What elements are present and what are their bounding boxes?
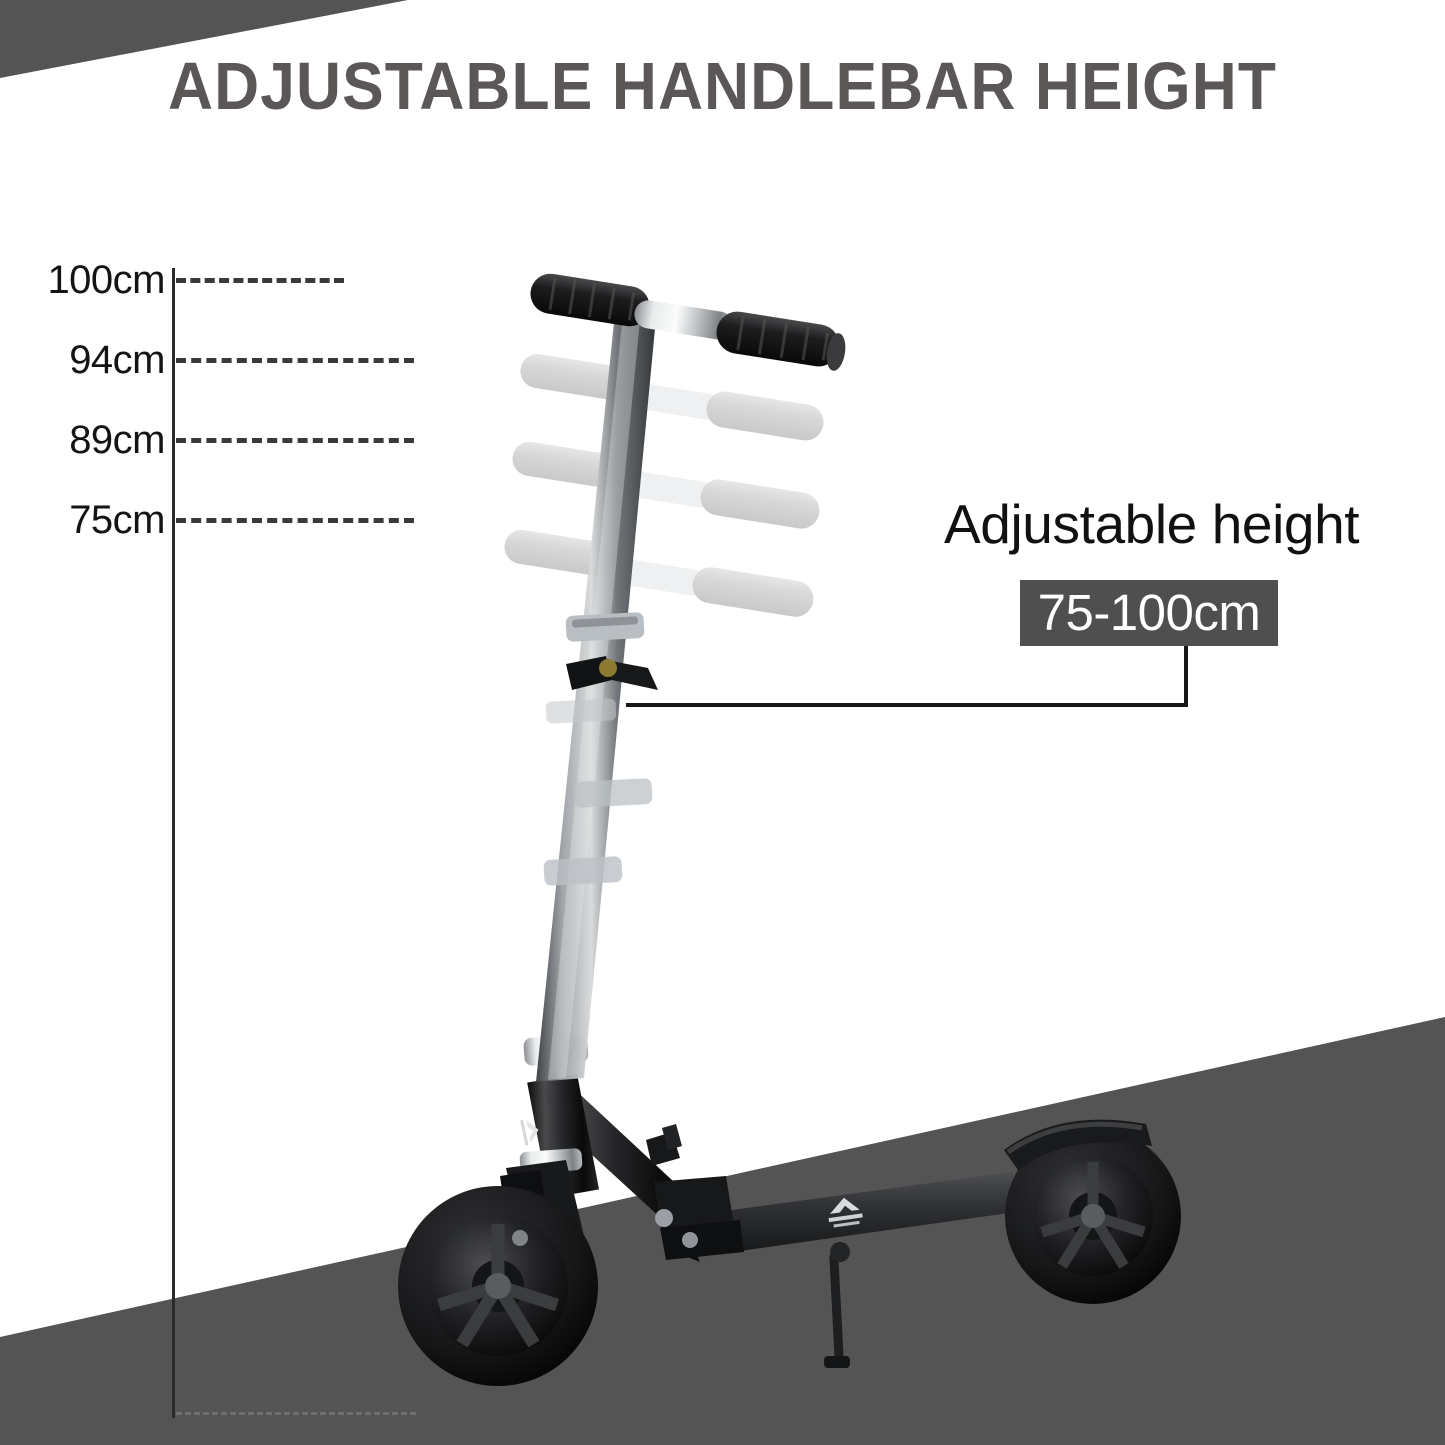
callout-badge: 75-100cm bbox=[1020, 580, 1278, 646]
stem-clamp-4 bbox=[545, 698, 616, 724]
stem-clamp-2 bbox=[573, 778, 652, 808]
scale-dash-75cm bbox=[176, 518, 414, 523]
scale-dash-94cm bbox=[176, 358, 414, 363]
rear-wheel bbox=[1004, 1120, 1181, 1304]
telescoping-stem bbox=[536, 318, 658, 1082]
stem-clamp-1 bbox=[565, 612, 644, 642]
infographic-page: ADJUSTABLE HANDLEBAR HEIGHT bbox=[0, 0, 1445, 1445]
scale-label-100cm: 100cm bbox=[45, 258, 165, 303]
scale-ground-dash bbox=[176, 1412, 416, 1415]
scooter-illustration bbox=[0, 0, 1445, 1445]
callout-leader-vertical bbox=[1184, 646, 1188, 706]
scale-label-89cm: 89cm bbox=[45, 418, 165, 463]
callout-leader-horizontal bbox=[626, 703, 1188, 707]
ghost-handlebar-position-89 bbox=[510, 439, 822, 531]
ghost-handlebar-position-75 bbox=[502, 527, 816, 619]
scale-dash-89cm bbox=[176, 438, 414, 443]
ghost-handlebar-position-94 bbox=[518, 352, 826, 443]
stem-clamp-3 bbox=[543, 856, 622, 886]
front-wheel bbox=[398, 1186, 598, 1386]
active-handlebar bbox=[528, 271, 848, 372]
kickstand bbox=[824, 1242, 850, 1368]
scale-label-94cm: 94cm bbox=[45, 338, 165, 383]
scale-axis-line bbox=[172, 268, 175, 1418]
scale-label-75cm: 75cm bbox=[45, 498, 165, 543]
scale-dash-100cm bbox=[176, 278, 344, 283]
callout-title: Adjustable height bbox=[944, 492, 1359, 556]
